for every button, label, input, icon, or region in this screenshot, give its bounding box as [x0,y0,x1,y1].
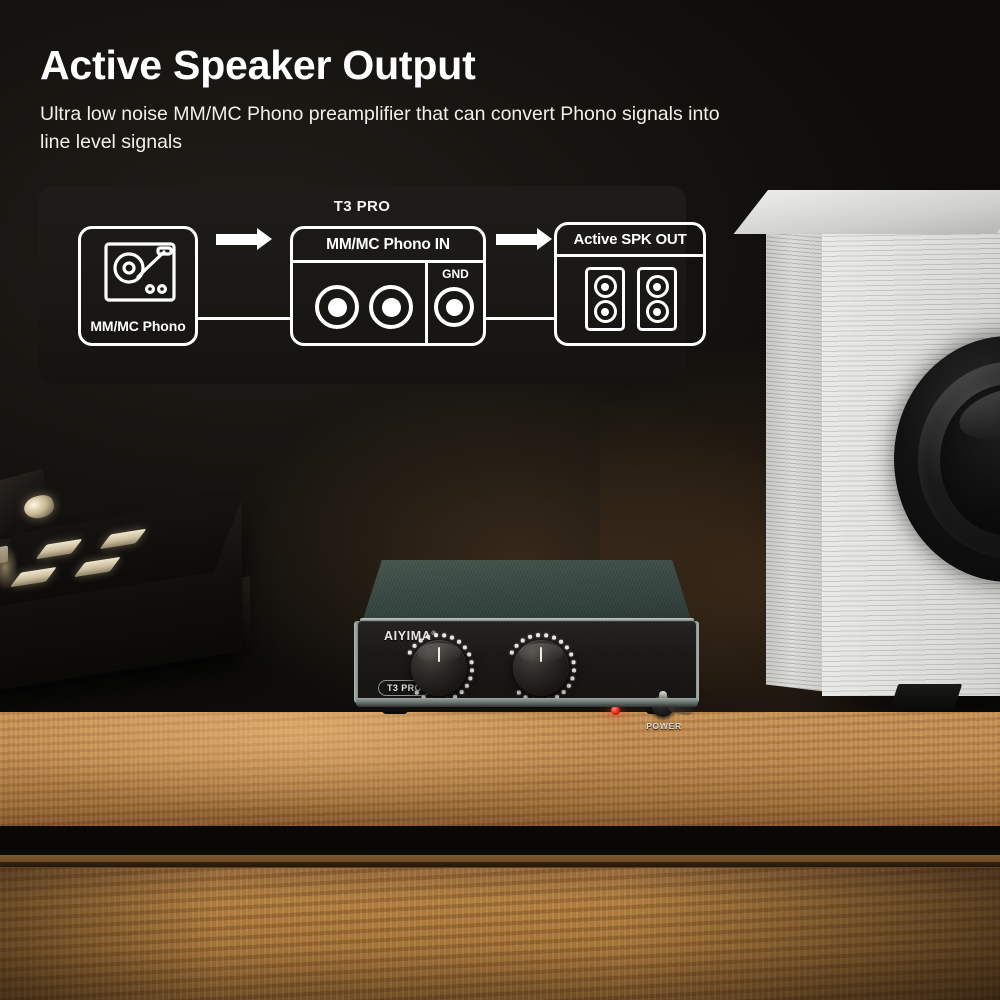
tweeter [646,275,669,298]
page-title: Active Speaker Output [40,44,760,87]
brand-name: AIYIMA [384,629,431,643]
device-front-panel: AIYIMA® T3 PRO [358,621,696,703]
driver-surround [918,362,1000,558]
flow-arrow-1 [216,228,272,250]
woofer [594,300,617,323]
knob-shadow [432,653,486,699]
speaker-foot [890,684,962,710]
turntable-device [0,470,280,720]
tweeter-dot [653,283,661,291]
output-header: Active SPK OUT [557,225,703,257]
table-front-vignette [0,868,1000,1000]
speaker-cabinet-side [766,204,824,691]
rca-jack-right [369,285,413,329]
power-label: POWER [636,721,692,731]
header-block: Active Speaker Output Ultra low noise MM… [40,44,760,157]
speaker-cabinet-top [734,190,1000,234]
model-badge: T3 PRO [378,680,431,696]
rca-pin [328,298,347,317]
gnd-label: GND [425,267,486,281]
gnd-pin [446,299,463,316]
rca-pin [382,298,401,317]
speaker-icon-right [637,267,677,331]
turntable-highlight [0,544,18,590]
woofer-dot [653,308,661,316]
knob-shadow [534,653,588,699]
table-groove [0,862,1000,867]
output-box: Active SPK OUT [554,222,706,346]
knob-gloss [519,643,563,663]
knob-cap[interactable] [513,640,569,696]
turntable-button [36,539,83,559]
connection-diagram-panel: T3 PRO MM/MC Phono [38,186,686,384]
gain-knob[interactable] [402,631,476,705]
flow-arrow-2 [496,228,552,250]
gnd-terminal [434,287,474,327]
brand-logo: AIYIMA® [384,629,436,643]
table-surface [0,712,1000,830]
device-top-cover [362,560,692,622]
turntable-button [74,557,121,577]
phono-preamplifier: AIYIMA® T3 PRO [346,560,706,712]
device-bottom-lip [356,698,698,707]
knob-indicator-dots [402,631,476,705]
tweeter [594,275,617,298]
volume-knob[interactable] [504,631,578,705]
power-led [611,706,620,715]
device-input-label: MM/MC Phono IN [326,236,450,254]
woofer [646,300,669,323]
speaker-icon-left [585,267,625,331]
device-box: MM/MC Phono IN GND [290,226,486,346]
woofer-dot [601,308,609,316]
output-label: Active SPK OUT [573,231,686,248]
rca-jack-left [315,285,359,329]
arrow-shaft [496,234,537,245]
knob-pointer [438,647,441,662]
knob-pointer [540,647,543,662]
signal-wire-output [484,317,556,320]
active-speaker [766,190,1000,720]
source-label: MM/MC Phono [81,318,195,334]
registered-mark: ® [431,631,436,637]
product-marketing-image: AIYIMA® T3 PRO [0,0,1000,1000]
source-box: MM/MC Phono [78,226,198,346]
turntable-button [100,529,147,549]
page-subtitle: Ultra low noise MM/MC Phono preamplifier… [40,101,730,156]
arrow-head [537,228,552,250]
device-input-header: MM/MC Phono IN [293,229,483,263]
arrow-head [257,228,272,250]
knob-cap[interactable] [411,640,467,696]
turntable-icon [102,240,178,304]
arrow-shaft [216,234,257,245]
diagram-title: T3 PRO [38,198,686,215]
knob-indicator-dots [504,631,578,705]
tweeter-dot [601,283,609,291]
signal-wire-input [196,317,292,320]
knob-gloss [417,643,461,663]
